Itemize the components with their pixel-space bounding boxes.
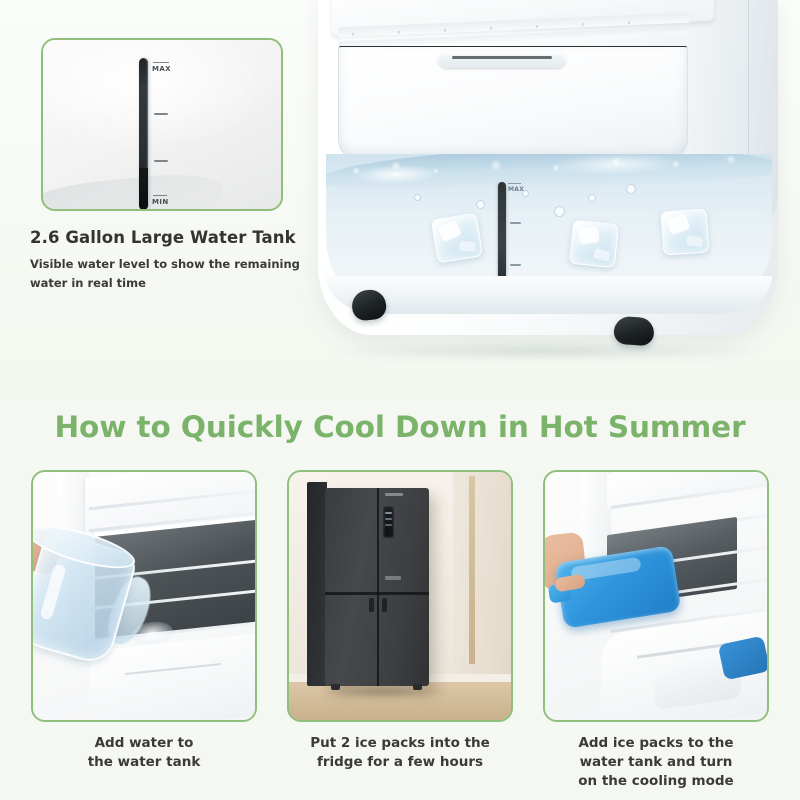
step-caption-line: fridge for a few hours <box>287 753 513 772</box>
product-feature-page: MAX MIN MAX MIN 2.6 Gallon Large Water T… <box>0 0 800 800</box>
step-caption-line: Add water to <box>31 734 257 753</box>
water-bubble <box>476 200 485 209</box>
step-caption: Put 2 ice packs into the fridge for a fe… <box>287 734 513 772</box>
step-caption-line: on the cooling mode <box>543 772 769 791</box>
water-bubble <box>588 194 596 202</box>
step-caption-line: water tank and turn <box>543 753 769 772</box>
gauge-max-label: MAX <box>508 186 524 193</box>
cooler-base-skirt <box>326 276 772 314</box>
gauge-tick <box>510 222 521 224</box>
step-caption: Add ice packs to the water tank and turn… <box>543 734 769 791</box>
refrigerator-handle <box>369 598 374 612</box>
refrigerator-side <box>307 482 327 686</box>
refrigerator-foot <box>413 684 422 690</box>
gauge-water-fill <box>139 168 148 210</box>
refrigerator-handle <box>382 598 387 612</box>
water-bubble <box>554 206 565 217</box>
refrigerator-foot <box>331 684 340 690</box>
step-caption-line: the water tank <box>31 753 257 772</box>
gauge-tick <box>154 160 168 162</box>
water-bubble <box>626 184 636 194</box>
gauge-tick <box>154 113 168 115</box>
step-add-ice-packs: Add ice packs to the water tank and turn… <box>543 470 769 791</box>
refrigerator-door-split <box>377 488 379 686</box>
step-caption-line: Put 2 ice packs into the <box>287 734 513 753</box>
refrigerator-control-panel <box>383 506 394 538</box>
cooler-door-handle <box>438 52 566 68</box>
water-level-gauge-closeup <box>139 58 148 210</box>
brand-logo <box>385 493 403 496</box>
step-caption: Add water to the water tank <box>31 734 257 772</box>
ice-cube <box>569 220 619 269</box>
step-image-card <box>287 470 513 722</box>
gauge-min-label: MIN <box>152 198 169 206</box>
air-cooler-product: MAX MIN <box>318 0 778 335</box>
how-to-steps: Add water to the water tank <box>0 470 800 800</box>
step-add-water: Add water to the water tank <box>31 470 257 772</box>
water-bubble <box>414 194 421 201</box>
ice-cube <box>431 213 483 264</box>
step-caption-line: Add ice packs to the <box>543 734 769 753</box>
ice-cube <box>661 208 710 255</box>
step-image-card <box>543 470 769 722</box>
step-freeze-ice-packs: Put 2 ice packs into the fridge for a fe… <box>287 470 513 772</box>
refrigerator-door-split <box>325 592 429 595</box>
feature-title: 2.6 Gallon Large Water Tank <box>30 228 430 247</box>
water-tank-inset-card: MAX MIN <box>41 38 283 211</box>
section-heading: How to Quickly Cool Down in Hot Summer <box>0 410 800 444</box>
brand-logo <box>385 576 401 580</box>
gauge-tick <box>510 264 521 266</box>
gauge-max-label: MAX <box>152 65 171 73</box>
product-drop-shadow <box>330 342 760 360</box>
step-image-card <box>31 470 257 722</box>
door-trim <box>469 476 475 664</box>
feature-description: Visible water level to show the remainin… <box>30 255 320 292</box>
